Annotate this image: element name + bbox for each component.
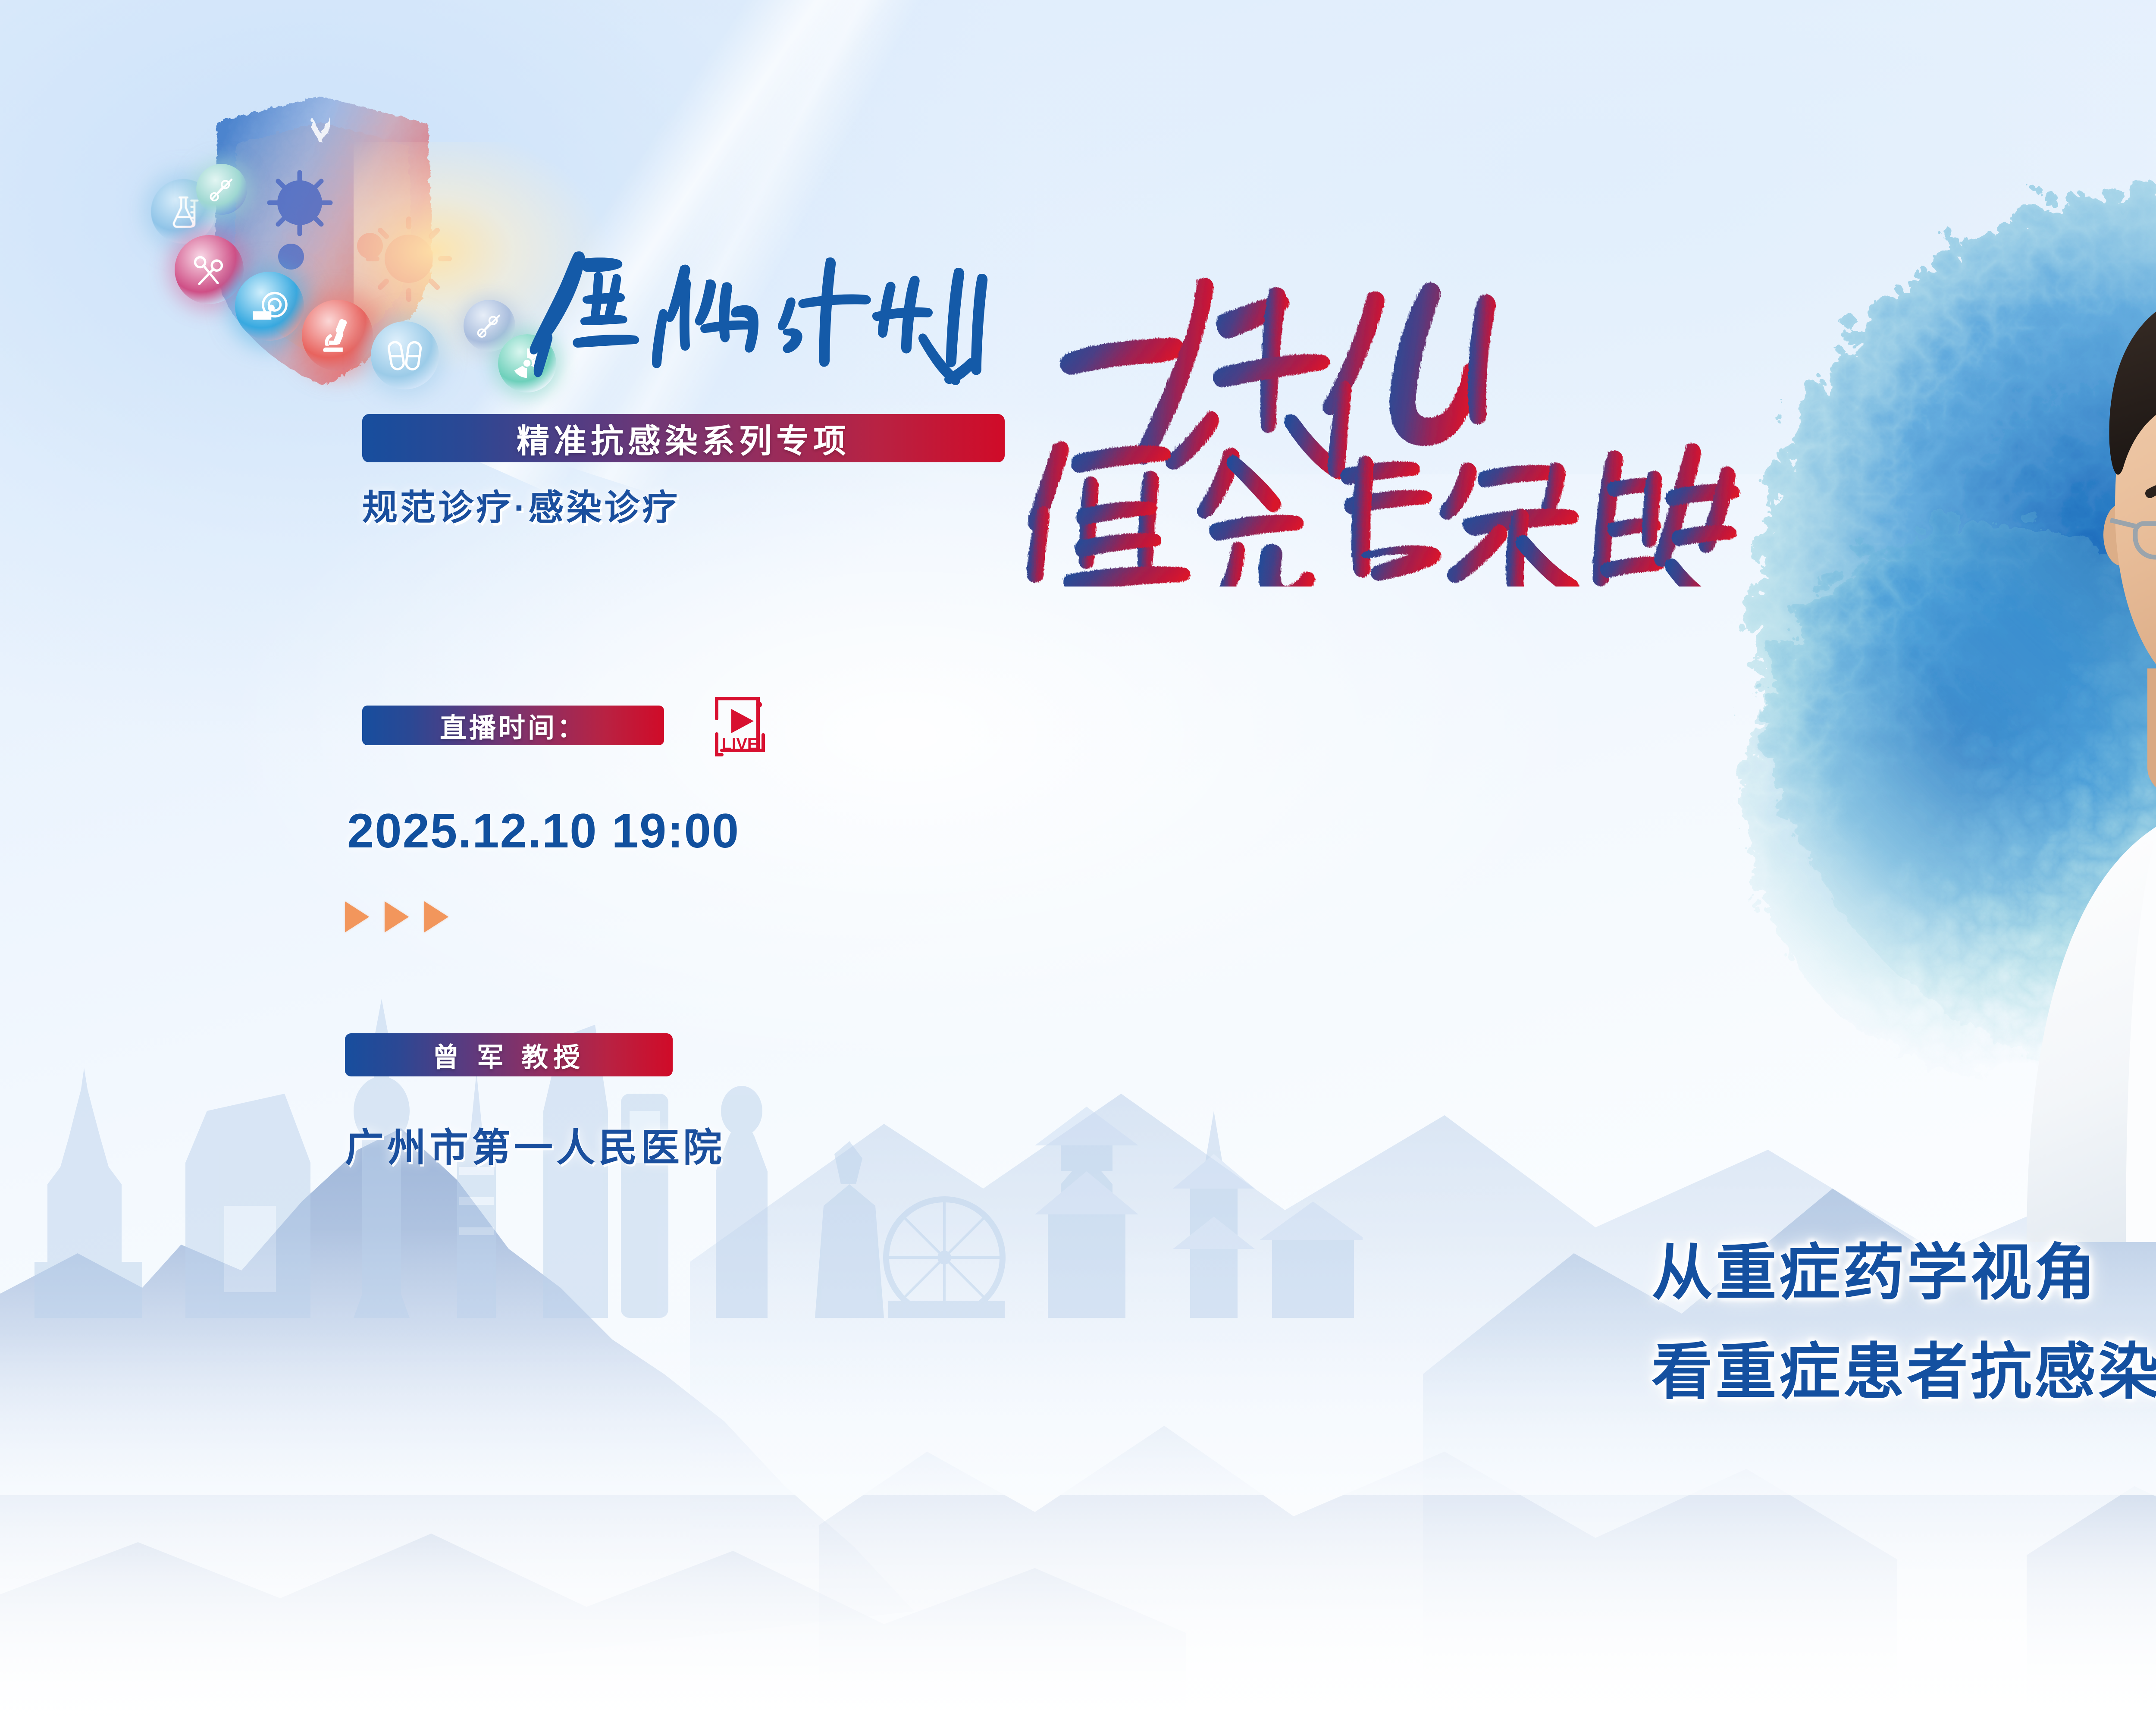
live-play-icon: LIVE	[711, 694, 768, 759]
scissors-icon	[196, 164, 247, 215]
speaker-affiliation: 广州市第一人民医院	[345, 1116, 725, 1172]
live-datetime: 2025.12.10 19:00	[347, 803, 740, 859]
program-subtitle: 规范诊疗·感染诊疗	[362, 479, 680, 530]
speaker-name-badge: 曾 军 教授	[345, 1033, 673, 1076]
mri-scanner-icon	[235, 272, 304, 341]
triangle-arrow-icon	[385, 901, 409, 932]
topic-line-2: 看重症患者抗感染治疗	[1651, 1322, 2156, 1411]
topic-line-1: 从重症药学视角	[1651, 1223, 2098, 1311]
live-badge-text: LIVE	[722, 735, 758, 753]
microscope-icon	[302, 300, 373, 371]
doctor-portrait: 广州市第一人民医院 First People's Hospital Since …	[1824, 207, 2156, 1242]
main-brush-title	[1026, 242, 1751, 587]
series-bar: 精准抗感染系列专项	[362, 414, 1005, 462]
scissors-icon	[175, 235, 244, 304]
pills-icon	[371, 321, 439, 389]
triangle-arrow-group	[345, 901, 448, 932]
program-calligraphy-title	[522, 233, 1031, 388]
triangle-arrow-icon	[345, 901, 369, 932]
triangle-arrow-icon	[424, 901, 448, 932]
poster-canvas: 精准抗感染系列专项 规范诊疗·感染诊疗	[0, 0, 2156, 1719]
live-time-label: 直播时间：	[362, 706, 664, 745]
